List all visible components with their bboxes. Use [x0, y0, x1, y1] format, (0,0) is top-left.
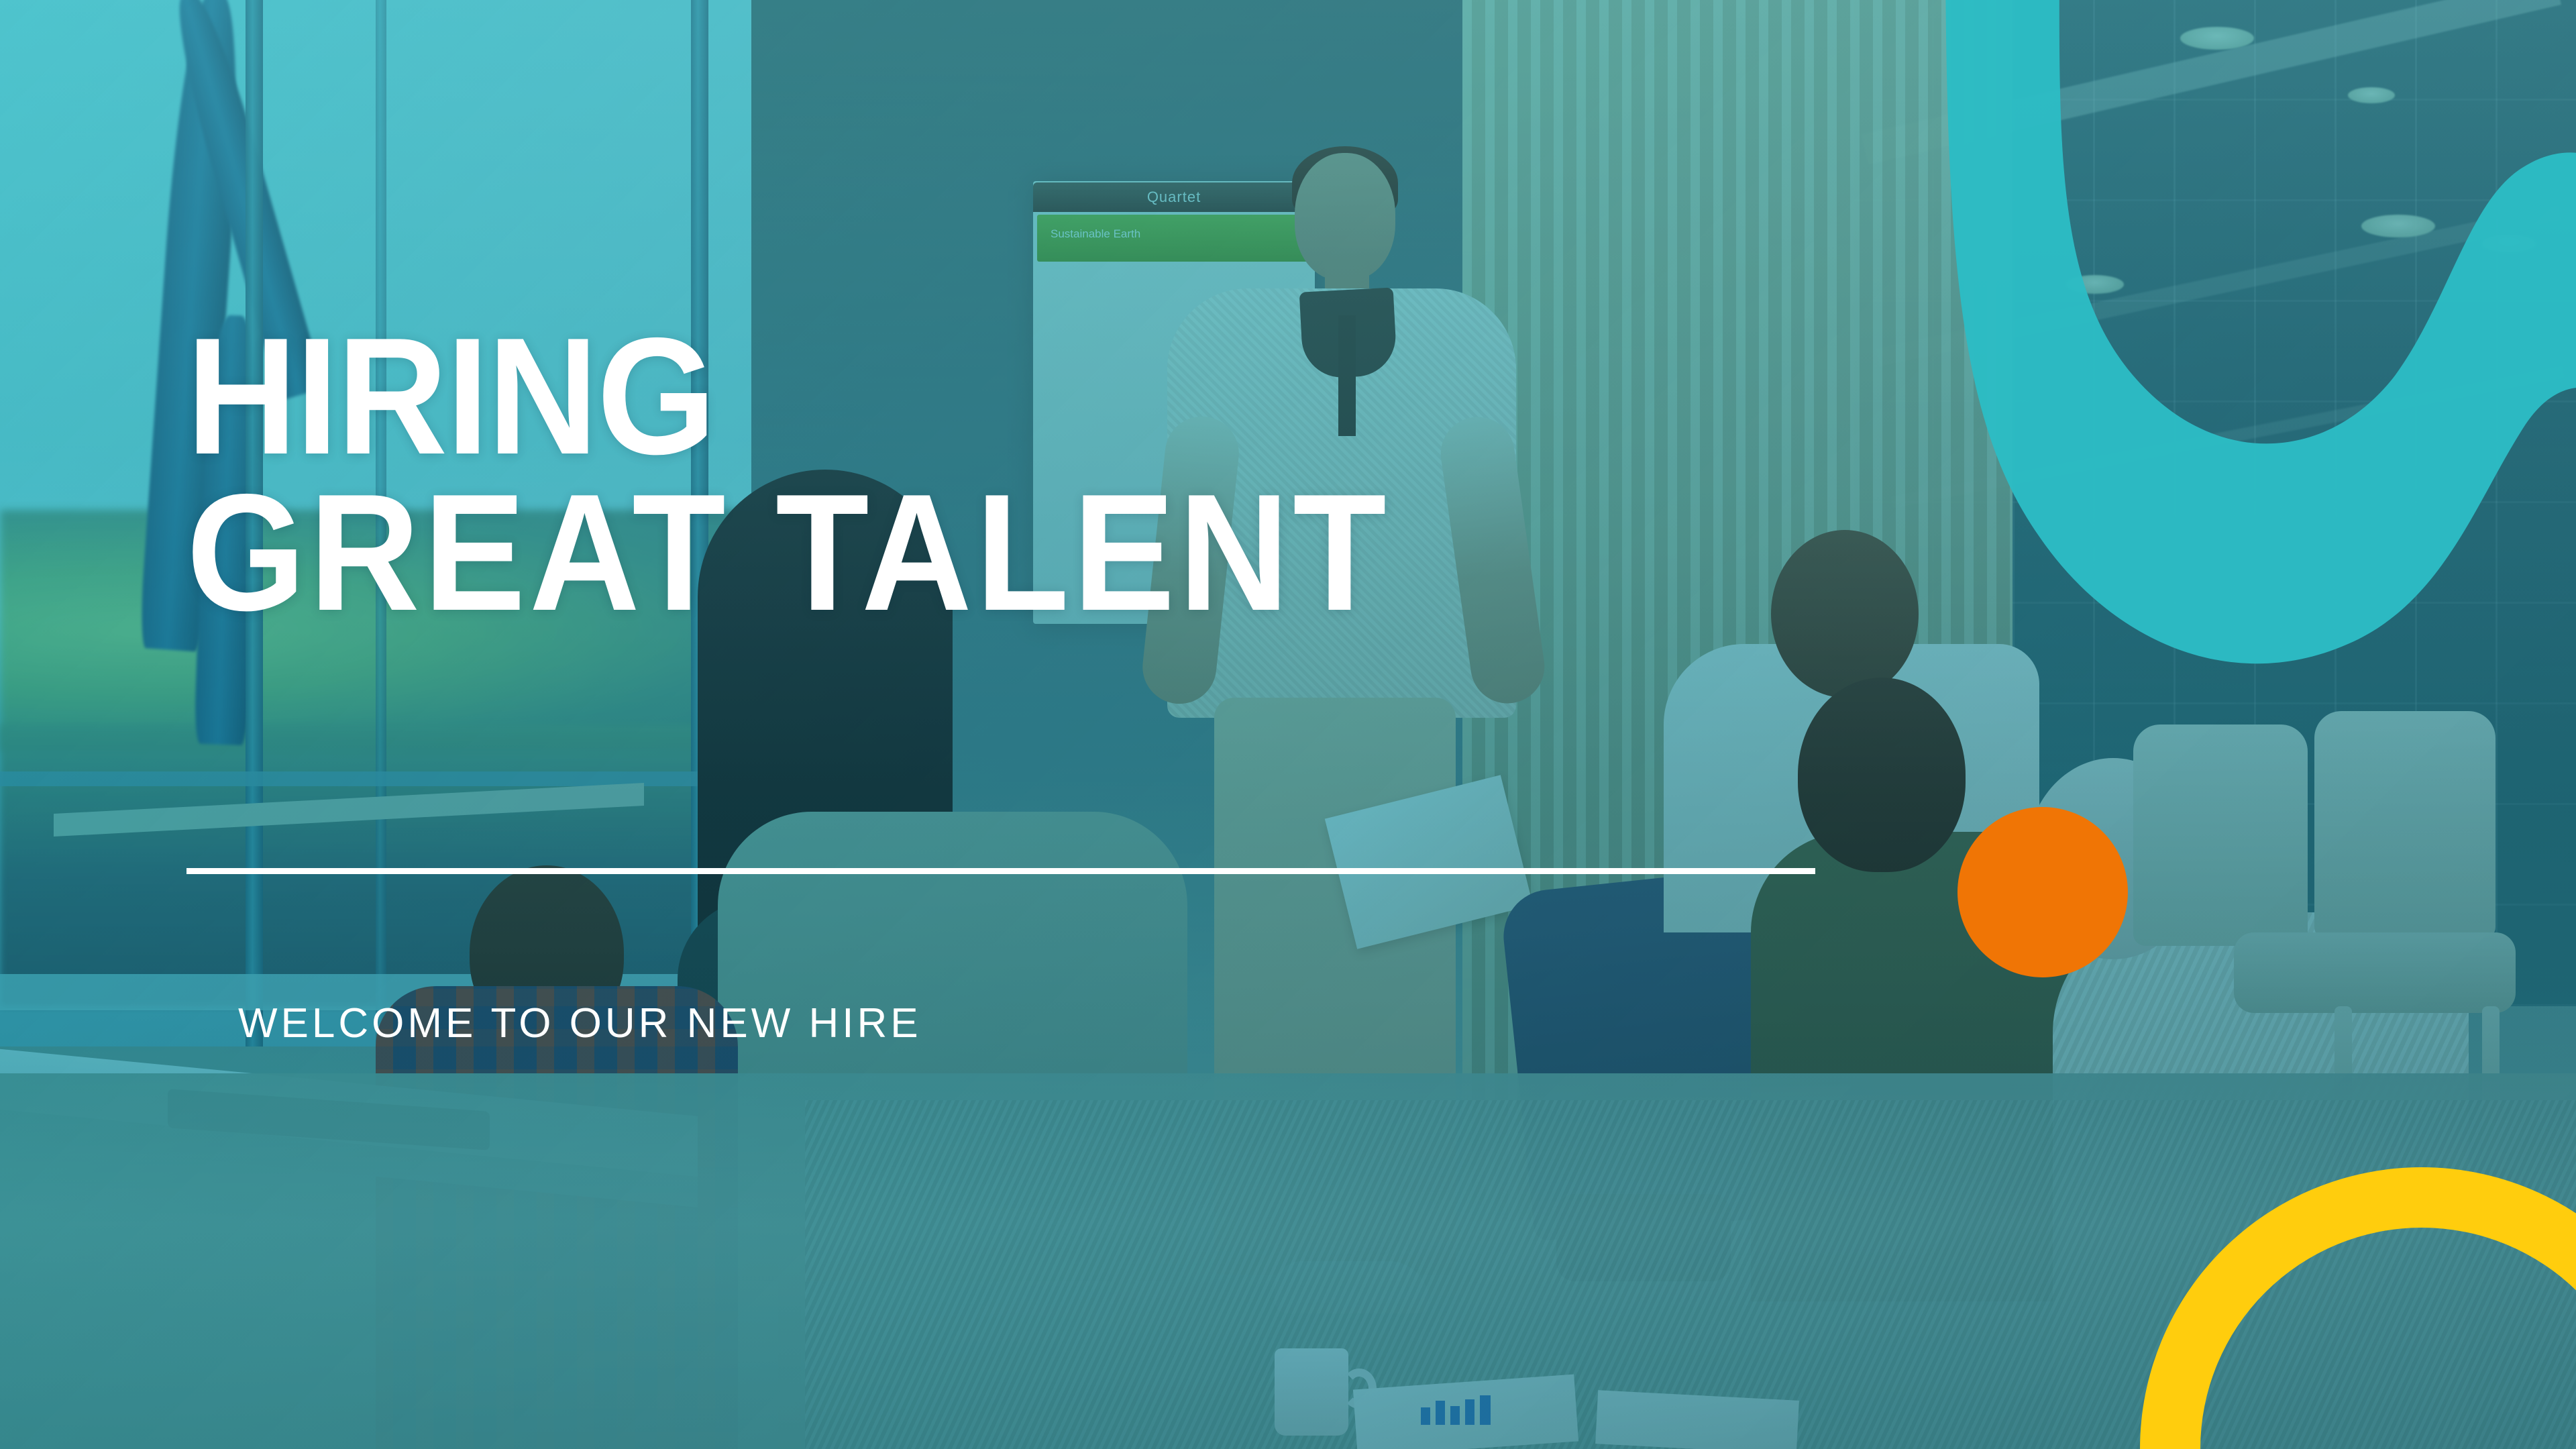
headline-line-2: GREAT TALENT [186, 474, 1390, 631]
teal-tint-gradient [0, 0, 2576, 1449]
page-title: HIRING GREAT TALENT [186, 318, 1390, 631]
divider-rule [186, 868, 1815, 874]
hiring-banner: Quartet Sustainable Earth [0, 0, 2576, 1449]
subtitle: WELCOME TO OUR NEW HIRE [238, 1000, 922, 1047]
